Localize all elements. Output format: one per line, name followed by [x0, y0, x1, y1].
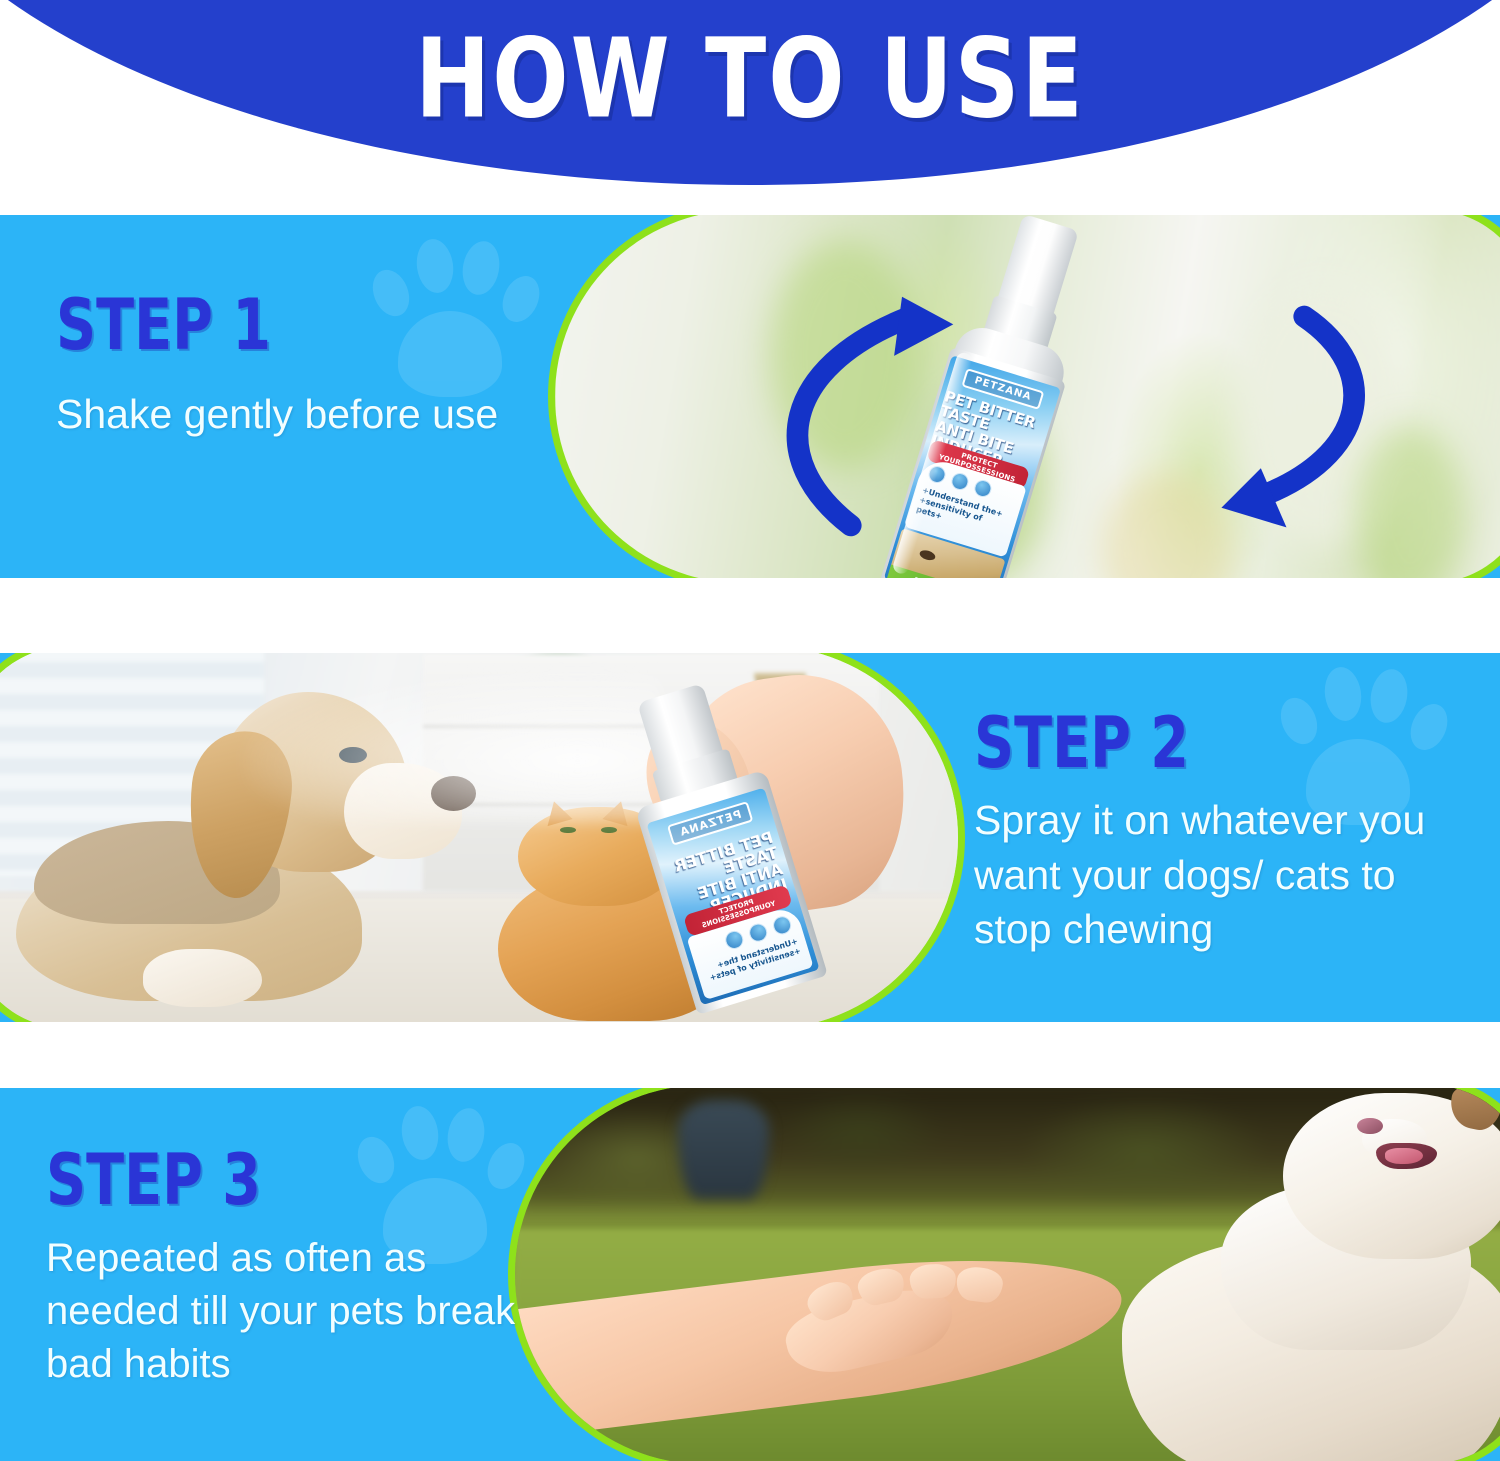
step-2-heading: STEP 2	[974, 707, 1454, 778]
curved-arrow-down-icon	[1257, 316, 1354, 497]
header-banner: HOW TO USE	[0, 0, 1500, 215]
step-2-body: Spray it on whatever you want your dogs/…	[974, 793, 1474, 957]
step-1-text-block: STEP 1 Shake gently before use	[56, 289, 526, 442]
paw-badge-icon	[746, 922, 768, 944]
step-1-heading: STEP 1	[56, 289, 507, 360]
step-3-image-plate	[508, 1088, 1500, 1461]
step-3-heading: STEP 3	[46, 1144, 526, 1215]
hand-holding-bottle: PETZANA PET BITTER TASTE ANTI BITE INDUC…	[601, 654, 938, 1022]
product-subtitle: +Understand the+ +sensitivity of pets+	[703, 937, 802, 984]
high-five-dog	[1104, 1088, 1500, 1461]
step-panel-3: STEP 3 Repeated as often as needed till …	[0, 1088, 1500, 1461]
step-3-body: Repeated as often as needed till your pe…	[46, 1232, 546, 1392]
background-person	[678, 1100, 769, 1199]
step-1-body: Shake gently before use	[56, 387, 526, 442]
shake-motion-arrows	[555, 215, 1500, 578]
step-2-image-plate: PETZANA PET BITTER TASTE ANTI BITE INDUC…	[0, 653, 965, 1022]
white-room-scene: PETZANA PET BITTER TASTE ANTI BITE INDUC…	[0, 653, 958, 1022]
step-panel-2: PETZANA PET BITTER TASTE ANTI BITE INDUC…	[0, 653, 1500, 1022]
step-1-photo: PETZANA PET BITTER TASTE ANTI BITE INDUC…	[555, 215, 1500, 578]
droplet-icon	[723, 929, 745, 951]
step-1-image-plate: PETZANA PET BITTER TASTE ANTI BITE INDUC…	[548, 215, 1500, 578]
curved-arrow-up-icon	[797, 318, 905, 525]
page-title: HOW TO USE	[0, 14, 1500, 143]
curved-arrow-up-head	[894, 297, 953, 356]
spray-mist	[244, 669, 660, 822]
shield-icon	[770, 914, 792, 936]
park-lawn-scene	[515, 1088, 1500, 1461]
step-2-photo: PETZANA PET BITTER TASTE ANTI BITE INDUC…	[0, 653, 958, 1022]
step-panel-1: PETZANA PET BITTER TASTE ANTI BITE INDUC…	[0, 215, 1500, 578]
step-3-text-block: STEP 3 Repeated as often as needed till …	[46, 1144, 546, 1392]
step-3-photo	[515, 1088, 1500, 1461]
step-2-text-block: STEP 2 Spray it on whatever you want you…	[974, 707, 1474, 957]
